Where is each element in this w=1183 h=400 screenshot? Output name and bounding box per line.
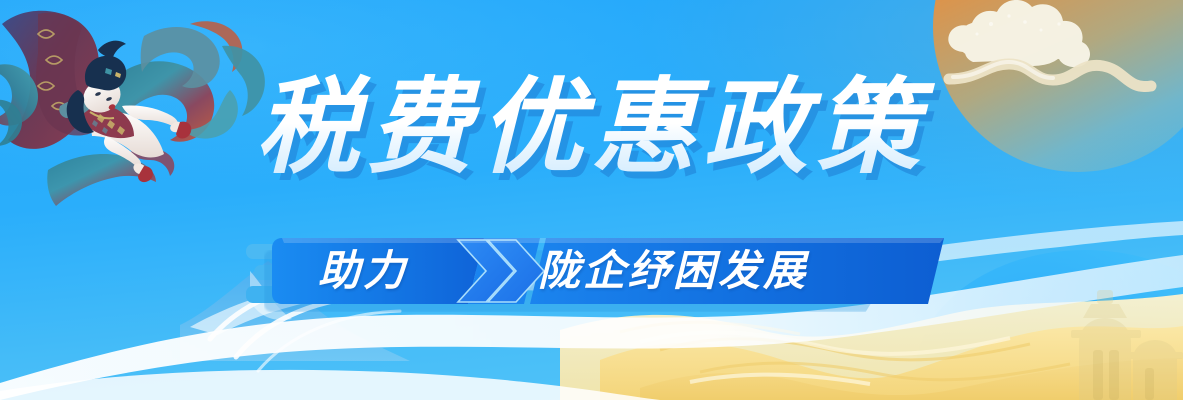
sun-glow-decoration: [915, 250, 1183, 400]
dunhuang-grotto-silhouette: [1053, 270, 1183, 400]
subtitle-left-text: 助力: [318, 246, 408, 296]
sky-gradient: [0, 0, 1183, 400]
subtitle-right-text: 陇企纾困发展: [538, 246, 808, 296]
title-container: 税费优惠政策: [0, 72, 1183, 184]
page-title: 税费优惠政策: [241, 72, 941, 184]
promotional-banner: 税费优惠政策: [0, 0, 1183, 400]
subtitle-ribbon: 助力 陇企纾困发展: [246, 232, 946, 324]
